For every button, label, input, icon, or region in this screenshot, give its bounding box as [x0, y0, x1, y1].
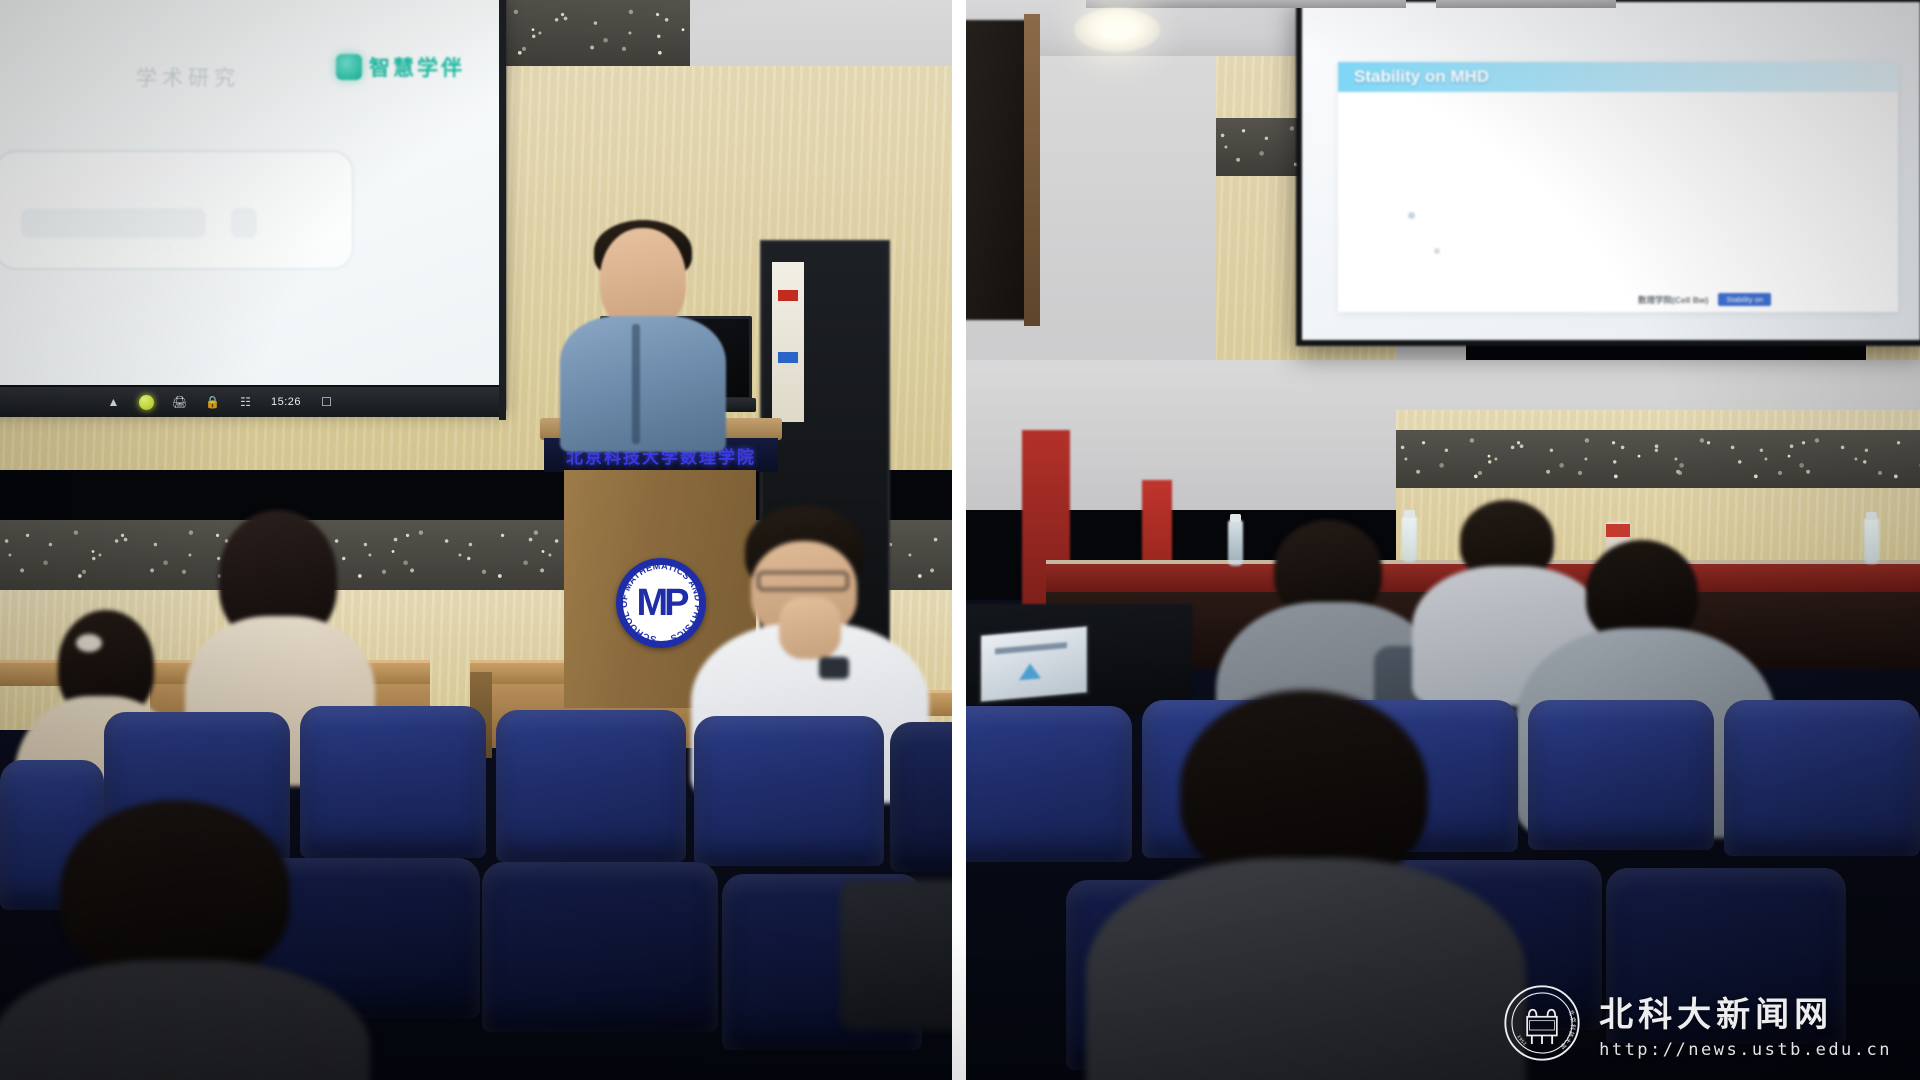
presentation-slide: Stability on MHD 数理学院(Cell Bw) Stability… [1338, 62, 1898, 312]
whiteboard-chip-a [21, 208, 206, 238]
eyeglasses-icon [757, 571, 849, 591]
attendee-hair [1180, 690, 1428, 886]
bottle-cap [1866, 512, 1877, 520]
hair-tie-icon [76, 634, 102, 652]
shield-icon[interactable]: ☐ [319, 395, 334, 410]
ceiling-rail [1436, 0, 1616, 8]
slide-bullet-icon [1434, 248, 1440, 254]
news-watermark: 北京科技大学 1952 北科大新闻网 http://news.ustb.edu.… [1503, 984, 1892, 1062]
whiteboard-chip-b [231, 208, 257, 238]
attendee-torso [1086, 858, 1526, 1080]
svg-text:SCHOOL OF MATHEMATICS AND PHYS: SCHOOL OF MATHEMATICS AND PHYSICS [619, 561, 703, 645]
seat [1724, 700, 1920, 856]
seat [890, 722, 952, 872]
bottle-cap [1230, 514, 1241, 522]
water-bottle [1402, 516, 1417, 562]
right-projection-screen: Stability on MHD 数理学院(Cell Bw) Stability… [1296, 0, 1920, 346]
whiteboard-card-note: · · · [156, 240, 185, 254]
lock-icon[interactable]: 🔒 [205, 395, 220, 410]
seat [1528, 700, 1714, 850]
seat [966, 706, 1132, 862]
backpack [840, 880, 952, 1030]
caret-up-icon[interactable]: ▲ [106, 395, 121, 410]
bottle-cap [1404, 510, 1415, 518]
attendee-hand [779, 597, 841, 659]
whiteboard-logo: 智慧学伴 [336, 52, 465, 82]
cabinet-blue-led-icon [778, 352, 798, 363]
ustb-seal-icon: 北京科技大学 1952 [1503, 984, 1581, 1062]
seat [496, 710, 686, 862]
ceiling-rail [1086, 0, 1406, 8]
cabinet-red-led-icon [778, 290, 798, 301]
water-bottle [1228, 520, 1243, 566]
whiteboard-faint-title: 学术研究 [136, 62, 240, 92]
laptop-screen-line [995, 642, 1067, 654]
photo-composite: 学术研究 智慧学伴 · · · ▲ 🖨 🔒 ☷ 15:26 ☐ [0, 0, 1920, 1080]
slide-bullet-icon [1408, 212, 1415, 219]
slide-footer: 数理学院(Cell Bw) Stability on [1638, 293, 1771, 306]
smartboard-taskbar[interactable]: ▲ 🖨 🔒 ☷ 15:26 ☐ [0, 385, 506, 417]
presenter-shirt-placket [632, 324, 640, 444]
door-frame [1024, 14, 1040, 326]
presenter-torso [560, 316, 726, 452]
printer-icon[interactable]: 🖨 [172, 395, 187, 410]
seat [694, 716, 884, 866]
svg-text:北京科技大学: 北京科技大学 [1558, 1009, 1578, 1052]
cabinet-strip [772, 262, 804, 422]
seat [300, 706, 486, 858]
left-presenter [556, 228, 726, 438]
slide-title: Stability on MHD [1354, 67, 1489, 87]
laptop-screen-logo-icon [1019, 662, 1041, 680]
panel-divider [952, 0, 966, 1080]
slide-title-bar: Stability on MHD [1338, 62, 1898, 92]
attendee-hair [60, 800, 290, 980]
left-photo-panel: 学术研究 智慧学伴 · · · ▲ 🖨 🔒 ☷ 15:26 ☐ [0, 0, 952, 1080]
slide-footer-text: 数理学院(Cell Bw) [1638, 294, 1708, 306]
watermark-url: http://news.ustb.edu.cn [1599, 1040, 1892, 1060]
status-dot-icon[interactable] [139, 395, 154, 410]
av-station-laptop [978, 623, 1090, 705]
doorway [966, 20, 1030, 320]
water-bottle [1864, 518, 1879, 564]
ceiling-downlight-icon [1098, 20, 1136, 40]
watermark-text: 北科大新闻网 http://news.ustb.edu.cn [1599, 987, 1892, 1060]
network-icon[interactable]: ☷ [238, 395, 253, 410]
taskbar-clock: 15:26 [271, 396, 301, 408]
right-granite-band-back [1396, 430, 1920, 488]
watermark-site-name: 北科大新闻网 [1599, 987, 1892, 1036]
wristwatch-icon [819, 657, 849, 679]
right-photo-panel: Stability on MHD 数理学院(Cell Bw) Stability… [966, 0, 1920, 1080]
slide-footer-chip: Stability on [1718, 293, 1771, 306]
emblem-ring-text-icon: SCHOOL OF MATHEMATICS AND PHYSICS [616, 558, 706, 648]
left-projection-screen: 学术研究 智慧学伴 · · · [0, 0, 506, 410]
paper-cup-band [1606, 524, 1630, 537]
whiteboard-logo-text: 智慧学伴 [369, 52, 465, 82]
seat [482, 862, 718, 1032]
whiteboard-logo-icon [336, 54, 362, 80]
